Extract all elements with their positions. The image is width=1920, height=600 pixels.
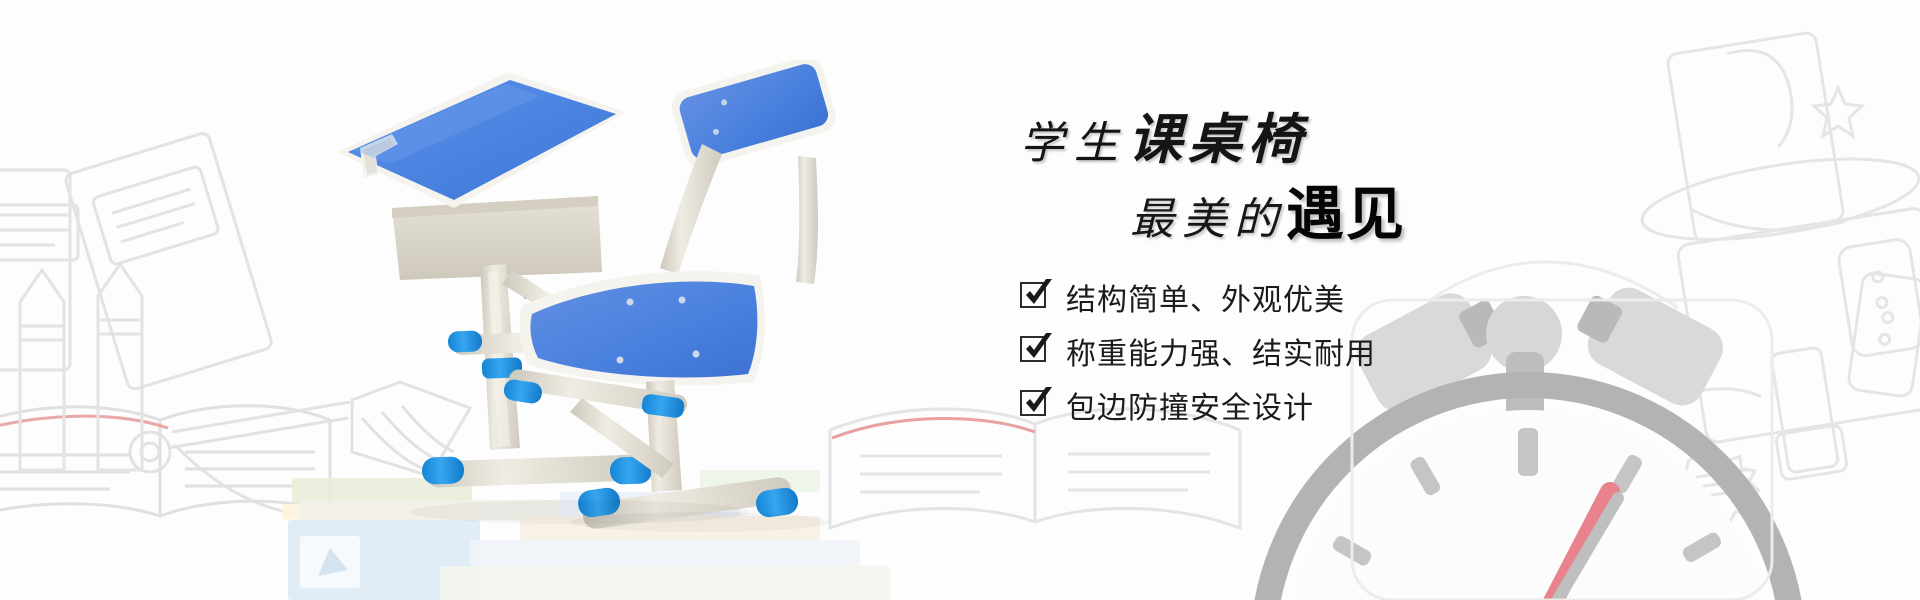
headline-line-2: 最美的遇见 xyxy=(1130,167,1406,251)
feature-label: 称重能力强、结实耐用 xyxy=(1066,329,1376,373)
feature-item: 包边防撞安全设计 xyxy=(1020,378,1376,432)
headline-line1-emphasis: 课桌椅 xyxy=(1128,110,1308,170)
promo-banner: 学生课桌椅 最美的遇见 结构简单、外观优美 xyxy=(0,0,1920,600)
feature-label: 结构简单、外观优美 xyxy=(1066,275,1345,319)
checkbox-checked-icon xyxy=(1020,390,1050,420)
copy-block: 学生课桌椅 最美的遇见 结构简单、外观优美 xyxy=(1000,95,1620,495)
notebook-illustration xyxy=(0,132,273,391)
checkbox-checked-icon xyxy=(1020,282,1050,312)
feature-item: 称重能力强、结实耐用 xyxy=(1020,324,1376,378)
checkbox-checked-icon xyxy=(1020,336,1050,366)
feature-label: 包边防撞安全设计 xyxy=(1066,383,1314,427)
feature-item: 结构简单、外观优美 xyxy=(1020,270,1376,324)
background-illustration-layer xyxy=(0,0,1920,600)
feature-list: 结构简单、外观优美 称重能力强、结实耐用 包边防撞安 xyxy=(1020,270,1376,432)
product-image-desk-chair xyxy=(330,60,890,540)
headline-line1-prefix: 学生 xyxy=(1020,119,1128,168)
headline-line2-emphasis: 遇见 xyxy=(1286,182,1406,247)
pencil-illustration xyxy=(20,264,142,470)
open-book-illustration xyxy=(0,406,330,520)
backpack-illustration xyxy=(1617,19,1920,529)
headline: 学生课桌椅 最美的遇见 xyxy=(1000,95,1620,255)
headline-line2-prefix: 最美的 xyxy=(1130,195,1286,244)
headline-line-1: 学生课桌椅 xyxy=(1020,95,1308,174)
